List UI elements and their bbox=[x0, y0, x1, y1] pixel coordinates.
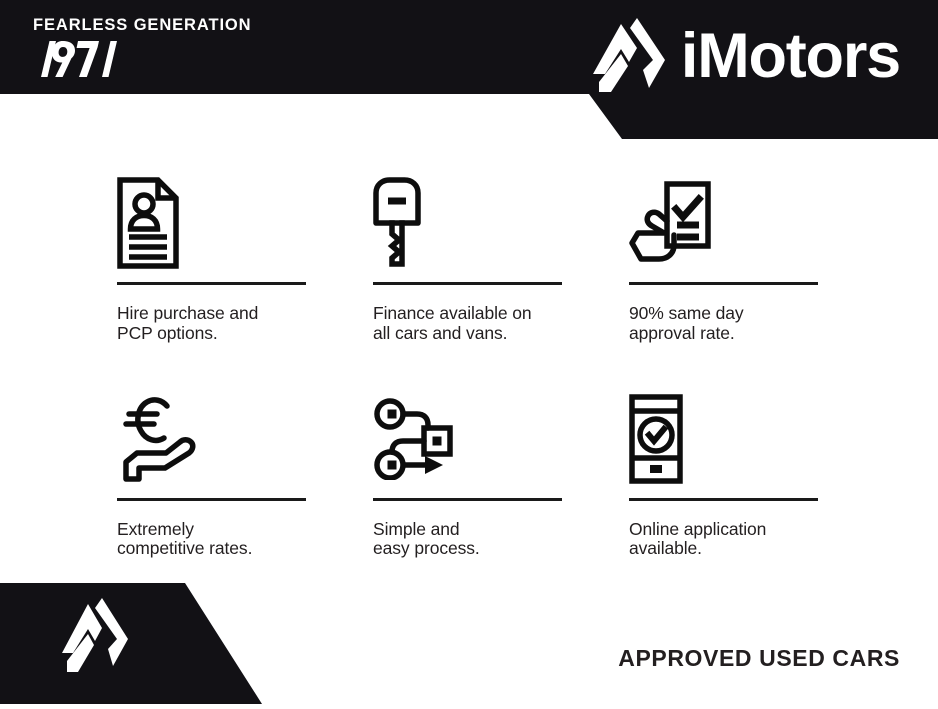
feature-divider bbox=[373, 498, 562, 501]
approved-used-cars-tagline: APPROVED USED CARS bbox=[618, 645, 900, 672]
feature-label: 90% same day approval rate. bbox=[629, 304, 818, 344]
feature-finance-available: Finance available on all cars and vans. bbox=[373, 168, 562, 344]
feature-online-application: Online application available. bbox=[629, 384, 818, 560]
feature-easy-process: Simple and easy process. bbox=[373, 384, 562, 560]
feature-approval-rate: 90% same day approval rate. bbox=[629, 168, 818, 344]
feature-grid: Hire purchase and PCP options. Finance a… bbox=[117, 168, 821, 559]
header-left-group: FEARLESS GENERATION bbox=[33, 17, 251, 82]
document-person-icon bbox=[117, 168, 306, 278]
fearless-generation-tagline: FEARLESS GENERATION bbox=[33, 17, 251, 34]
feature-divider bbox=[117, 498, 306, 501]
feature-label: Simple and easy process. bbox=[373, 520, 562, 560]
feature-divider bbox=[117, 282, 306, 285]
header-brand-group: iMotors bbox=[593, 16, 900, 96]
feature-divider bbox=[629, 282, 818, 285]
feature-divider bbox=[629, 498, 818, 501]
mobile-check-icon bbox=[629, 384, 818, 494]
feature-competitive-rates: Extremely competitive rates. bbox=[117, 384, 306, 560]
feature-label: Finance available on all cars and vans. bbox=[373, 304, 562, 344]
feature-label: Extremely competitive rates. bbox=[117, 520, 306, 560]
year-1971-logo bbox=[33, 41, 119, 77]
imotors-chevron-icon bbox=[593, 16, 665, 96]
feature-label: Online application available. bbox=[629, 520, 818, 560]
car-key-icon bbox=[373, 168, 562, 278]
feature-label: Hire purchase and PCP options. bbox=[117, 304, 306, 344]
process-flow-icon bbox=[373, 384, 562, 494]
feature-divider bbox=[373, 282, 562, 285]
imotors-wordmark: iMotors bbox=[681, 25, 900, 88]
hand-document-check-icon bbox=[629, 168, 818, 278]
footer-banner bbox=[0, 575, 938, 704]
feature-hire-purchase: Hire purchase and PCP options. bbox=[117, 168, 306, 344]
imotors-chevron-icon-footer bbox=[62, 598, 128, 676]
footer-background-shape bbox=[0, 575, 938, 704]
hand-euro-icon bbox=[117, 384, 306, 494]
